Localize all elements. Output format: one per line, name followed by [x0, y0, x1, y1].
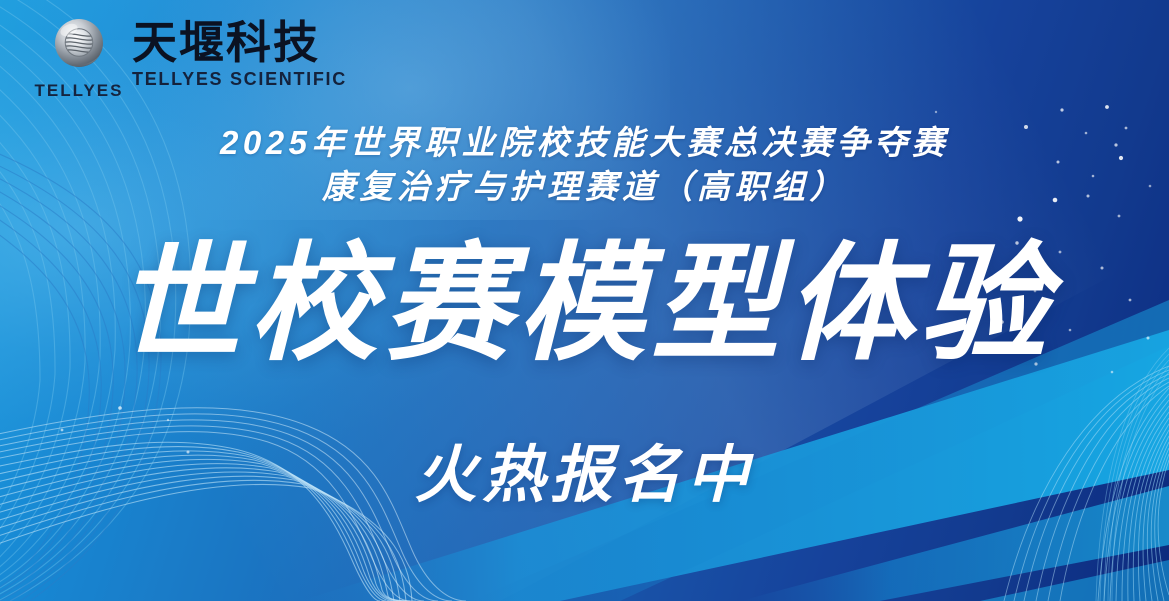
subtitle-line-1: 2025年世界职业院校技能大赛总决赛争夺赛	[0, 121, 1169, 165]
brand-logo-block: TELLYES 天堰科技 TELLYES SCIENTIFIC	[36, 18, 347, 101]
main-headline: 世校赛模型体验	[0, 236, 1169, 374]
logo-wordmark: TELLYES	[35, 81, 124, 101]
event-subtitle: 2025年世界职业院校技能大赛总决赛争夺赛 康复治疗与护理赛道（高职组）	[0, 121, 1169, 208]
cta-text: 火热报名中	[0, 424, 1169, 514]
promo-banner: TELLYES 天堰科技 TELLYES SCIENTIFIC 2025年世界职…	[0, 0, 1169, 601]
subtitle-line-2: 康复治疗与护理赛道（高职组）	[0, 165, 1169, 209]
company-name-en: TELLYES SCIENTIFIC	[132, 69, 347, 90]
company-name-cn: 天堰科技	[132, 20, 347, 66]
logo-mark-wrap: TELLYES	[36, 18, 122, 101]
brand-name-wrap: 天堰科技 TELLYES SCIENTIFIC	[132, 18, 347, 90]
tellyes-sphere-logo-icon	[47, 18, 111, 80]
